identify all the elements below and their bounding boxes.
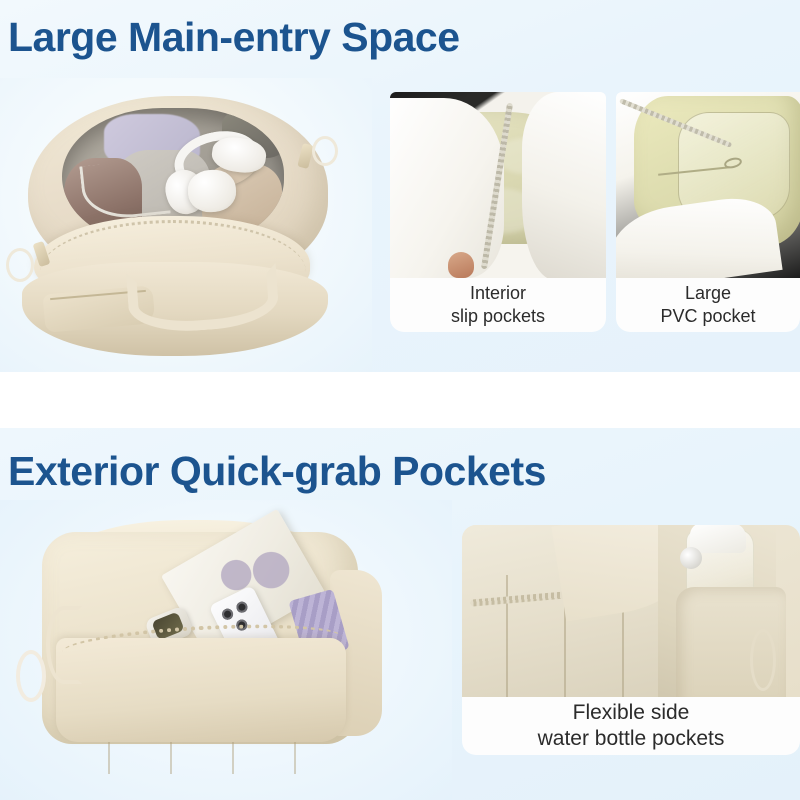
section-heading-exterior-quick-grab-pockets: Exterior Quick-grab Pockets: [8, 448, 546, 495]
phone-camera-lens-icon: [220, 607, 235, 622]
caption-line-1: Flexible side: [573, 700, 690, 726]
hero-image-exterior-pockets: [0, 500, 452, 800]
side-drawstring-loop-left: [6, 248, 34, 282]
section-heading-main-entry-space: Large Main-entry Space: [8, 14, 460, 61]
detail-photo-interior-slip-pockets: [390, 92, 606, 278]
quilt-seam: [506, 575, 508, 697]
water-bottle-button-icon: [680, 547, 702, 569]
detail-panel-water-bottle-pockets: Flexible side water bottle pockets: [462, 525, 800, 755]
detail-photo-water-bottle-pocket: [462, 525, 800, 697]
caption-line-2: water bottle pockets: [538, 726, 725, 752]
hand-thumb: [448, 252, 474, 278]
hero-image-open-duffel: [0, 78, 372, 372]
caption-card-interior-slip-pockets: Interior slip pockets: [390, 278, 606, 332]
bag-opening-edge-right: [522, 92, 606, 278]
caption-card-large-pvc-pocket: Large PVC pocket: [616, 278, 800, 332]
side-drawstring-loop-right: [312, 136, 338, 166]
detail-panel-interior-slip-pockets: Interior slip pockets: [390, 92, 606, 332]
water-bottle-cap: [690, 525, 746, 553]
side-drawstring-loop: [750, 629, 776, 691]
section-divider: [0, 372, 800, 428]
side-drawstring-loop: [16, 650, 46, 702]
side-strap: [46, 606, 82, 684]
exterior-front-pocket: [56, 638, 346, 742]
caption-line-2: PVC pocket: [660, 305, 755, 328]
caption-card-water-bottle-pockets: Flexible side water bottle pockets: [462, 697, 800, 755]
caption-line-2: slip pockets: [451, 305, 545, 328]
detail-panel-large-pvc-pocket: Large PVC pocket: [616, 92, 800, 332]
detail-photo-large-pvc-pocket: [616, 92, 800, 278]
caption-line-1: Large: [685, 282, 731, 305]
phone-camera-lens-icon: [235, 600, 250, 615]
product-feature-graphic: Large Main-entry Space: [0, 0, 800, 800]
caption-line-1: Interior: [470, 282, 526, 305]
